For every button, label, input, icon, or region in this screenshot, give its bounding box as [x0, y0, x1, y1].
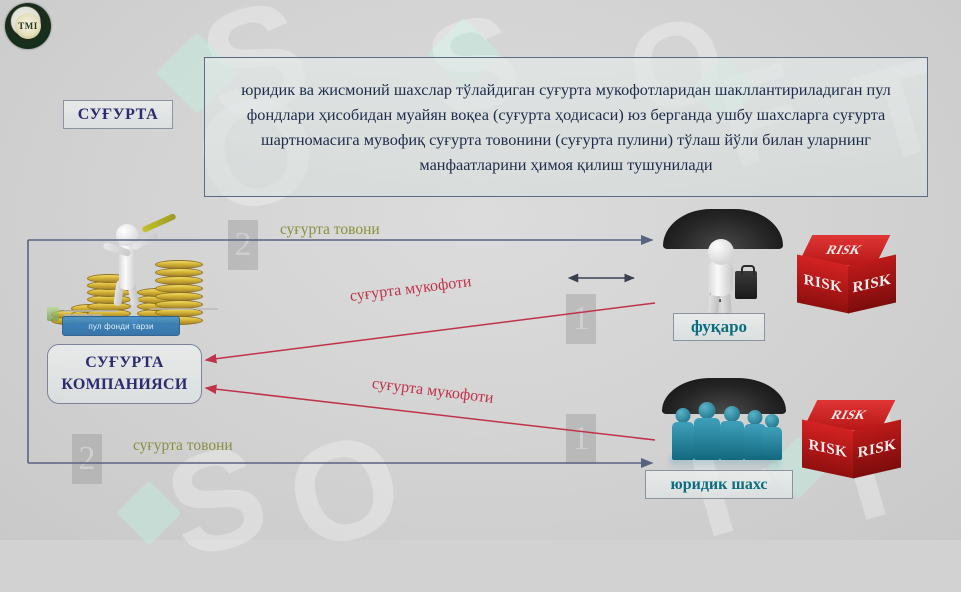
citizen-label: фуқаро	[673, 313, 765, 341]
company-label-line1: СУҒУРТА	[61, 352, 187, 374]
risk-face-front: RISK	[797, 254, 849, 313]
risk-label: RISK	[809, 436, 848, 461]
person-figure	[720, 406, 744, 460]
institution-logo: TMI	[5, 3, 51, 49]
step-number-payout-top: 2	[228, 220, 258, 270]
risk-cube-top: RISK RISK RISK	[795, 235, 899, 317]
watermark-diamond	[116, 480, 181, 545]
step-number-payout-bottom: 2	[72, 434, 102, 484]
company-label-line2: КОМПАНИЯСИ	[61, 374, 187, 396]
premium-caption-top: суғурта мукофоти	[349, 273, 473, 306]
risk-label: RISK	[804, 271, 843, 296]
figure-head	[708, 239, 734, 265]
risk-face-front: RISK	[802, 419, 854, 478]
figure-body	[707, 260, 733, 296]
definition-text: юридик ва жисмоний шахслар тўлайдиган су…	[205, 77, 927, 177]
person-figure	[762, 414, 782, 460]
premium-caption-bottom: суғурта мукофоти	[371, 375, 495, 408]
risk-label: RISK	[823, 242, 865, 258]
step-number-premium-top: 1	[566, 294, 596, 344]
watermark-text: O	[270, 398, 418, 583]
risk-face-side: RISK	[848, 254, 896, 313]
divider	[196, 308, 218, 310]
payout-caption-bottom: суғурта товони	[133, 437, 233, 455]
step-number-premium-bottom: 1	[566, 414, 596, 464]
fund-button[interactable]: пул фонди тарзи	[62, 316, 180, 336]
fund-badge-icon	[47, 307, 59, 321]
definition-panel: юридик ва жисмоний шахслар тўлайдиган су…	[204, 57, 928, 197]
payout-caption-top: суғурта товони	[280, 221, 380, 239]
risk-label: RISK	[853, 271, 892, 297]
citizen-illustration	[655, 205, 795, 315]
logo-monogram: TMI	[15, 13, 41, 39]
risk-label: RISK	[858, 436, 897, 462]
risk-face-side: RISK	[853, 419, 901, 478]
slide-canvas: S O S O S O F T F T TMI юридик ва жисмон…	[0, 0, 961, 540]
risk-label: RISK	[828, 407, 870, 423]
person-figure	[694, 402, 720, 460]
legal-entity-label: юридик шахс	[645, 470, 793, 499]
shovel-icon	[141, 213, 176, 233]
topic-label: СУҒУРТА	[63, 100, 173, 129]
divider	[150, 308, 194, 310]
insurance-company-box: СУҒУРТА КОМПАНИЯСИ	[47, 344, 202, 404]
legal-entity-illustration	[650, 378, 800, 470]
person-figure	[672, 408, 694, 460]
briefcase-icon	[735, 271, 757, 299]
figure-head	[116, 224, 138, 246]
risk-cube-bottom: RISK RISK RISK	[800, 400, 904, 482]
divider	[64, 310, 118, 312]
